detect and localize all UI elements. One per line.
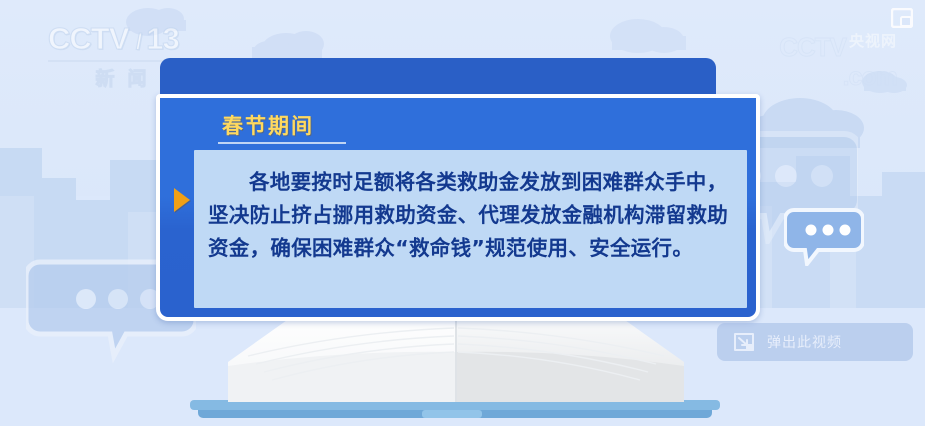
open-book-illustration [170, 306, 740, 426]
watermark-com: .com [749, 63, 897, 92]
popout-button-label: 弹出此视频 [767, 332, 842, 352]
video-player[interactable]: CCTV / 13 新闻 CCTV 央视网 .com 春节期间 各地要按时足额将… [0, 0, 925, 426]
news-caption-card: 春节期间 各地要按时足额将各类救助金发放到困难群众手中，坚决防止挤占挪用救助资金… [156, 58, 760, 321]
watermark-cctv: CCTV [779, 32, 846, 63]
watermark-cn: 央视网 [849, 30, 897, 51]
logo-channel-number: 13 [146, 21, 178, 56]
card-body-text: 各地要按时足额将各类救助金发放到困难群众手中，坚决防止挤占挪用救助资金、代理发放… [194, 150, 747, 265]
card-title: 春节期间 [222, 110, 314, 140]
card-body: 春节期间 各地要按时足额将各类救助金发放到困难群众手中，坚决防止挤占挪用救助资金… [156, 94, 760, 321]
popout-video-button[interactable]: 弹出此视频 [717, 323, 913, 361]
cctv-com-watermark: CCTV 央视网 .com [779, 30, 897, 92]
speech-bubble-icon [784, 204, 864, 266]
play-triangle-icon [174, 188, 190, 212]
picture-in-picture-icon[interactable] [891, 8, 913, 28]
card-title-underline [218, 142, 346, 144]
logo-text-cctv: CCTV [48, 21, 128, 56]
card-text-panel: 各地要按时足额将各类救助金发放到困难群众手中，坚决防止挤占挪用救助资金、代理发放… [194, 150, 747, 308]
picture-in-picture-icon [733, 332, 755, 352]
